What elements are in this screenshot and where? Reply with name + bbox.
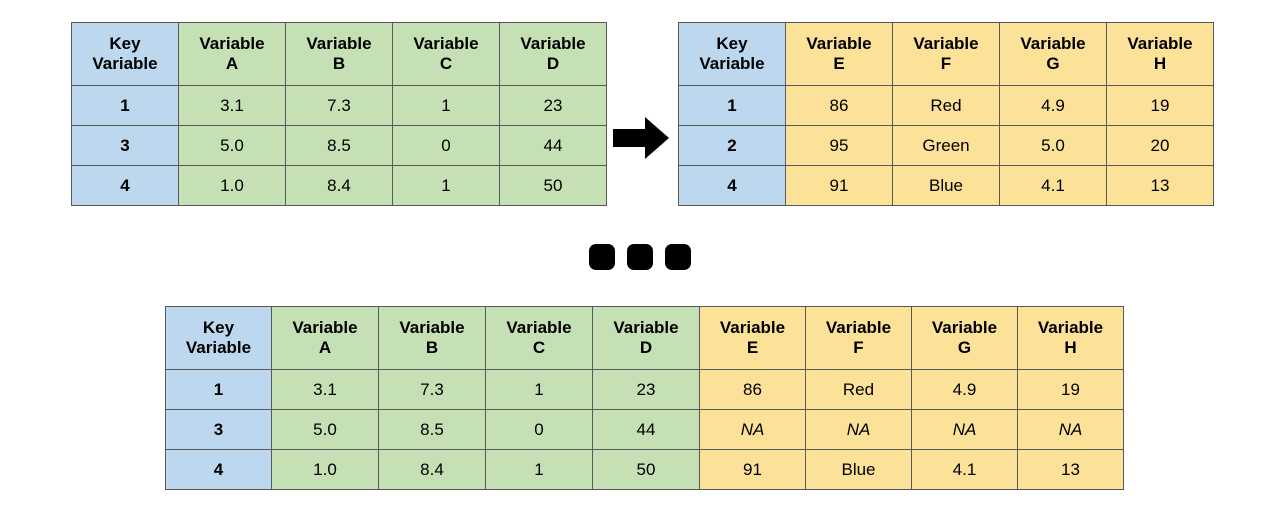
cell-value: 1.0 <box>179 166 286 206</box>
table-header-row: Key Variable Variable A Variable B Varia… <box>72 23 607 86</box>
header-cell-key-variable: Key Variable <box>679 23 786 86</box>
header-line-2: G <box>1000 54 1106 74</box>
header-cell-variable-c: Variable C <box>486 307 593 370</box>
header-line-1: Variable <box>1018 318 1123 338</box>
cell-value: 8.5 <box>379 410 486 450</box>
cell-value: Red <box>893 86 1000 126</box>
dot-3 <box>665 244 691 270</box>
cell-value: 19 <box>1107 86 1214 126</box>
table-header-row: Key Variable Variable E Variable F Varia… <box>679 23 1214 86</box>
cell-value: 19 <box>1018 370 1124 410</box>
header-line-1: Variable <box>806 318 911 338</box>
header-cell-variable-b: Variable B <box>379 307 486 370</box>
header-cell-key-variable: Key Variable <box>72 23 179 86</box>
right-arrow-icon <box>613 117 669 159</box>
cell-value: 50 <box>593 450 700 490</box>
dot-1 <box>589 244 615 270</box>
header-cell-variable-a: Variable A <box>272 307 379 370</box>
header-cell-variable-a: Variable A <box>179 23 286 86</box>
cell-value: 5.0 <box>1000 126 1107 166</box>
header-line-1: Variable <box>286 34 392 54</box>
cell-key: 1 <box>679 86 786 126</box>
header-line-1: Variable <box>500 34 606 54</box>
table-row: 3 5.0 8.5 0 44 NA NA NA NA <box>166 410 1124 450</box>
header-line-2: C <box>486 338 592 358</box>
table-merged-result: Key Variable Variable A Variable B Varia… <box>165 306 1124 490</box>
table-source-right: Key Variable Variable E Variable F Varia… <box>678 22 1214 206</box>
header-line-1: Variable <box>1107 34 1213 54</box>
header-line-2: Variable <box>679 54 785 74</box>
header-cell-variable-g: Variable G <box>1000 23 1107 86</box>
header-cell-variable-d: Variable D <box>500 23 607 86</box>
header-line-1: Variable <box>272 318 378 338</box>
table-row: 3 5.0 8.5 0 44 <box>72 126 607 166</box>
cell-value: 4.9 <box>1000 86 1107 126</box>
table-row: 1 86 Red 4.9 19 <box>679 86 1214 126</box>
cell-key: 4 <box>679 166 786 206</box>
cell-value: 8.4 <box>286 166 393 206</box>
cell-value: 23 <box>593 370 700 410</box>
header-cell-variable-f: Variable F <box>806 307 912 370</box>
cell-value: 5.0 <box>179 126 286 166</box>
cell-value: 13 <box>1018 450 1124 490</box>
cell-value: 20 <box>1107 126 1214 166</box>
table-row: 2 95 Green 5.0 20 <box>679 126 1214 166</box>
header-line-2: D <box>593 338 699 358</box>
cell-value: 3.1 <box>272 370 379 410</box>
cell-value: 44 <box>500 126 607 166</box>
cell-key: 3 <box>72 126 179 166</box>
table-header-row: Key Variable Variable A Variable B Varia… <box>166 307 1124 370</box>
cell-value: Red <box>806 370 912 410</box>
header-line-1: Variable <box>912 318 1017 338</box>
header-cell-key-variable: Key Variable <box>166 307 272 370</box>
cell-value: 5.0 <box>272 410 379 450</box>
dot-2 <box>627 244 653 270</box>
cell-value-na: NA <box>912 410 1018 450</box>
cell-value: 3.1 <box>179 86 286 126</box>
header-line-2: Variable <box>166 338 271 358</box>
cell-value: 4.9 <box>912 370 1018 410</box>
header-line-2: B <box>379 338 485 358</box>
header-line-1: Key <box>72 34 178 54</box>
header-line-1: Key <box>166 318 271 338</box>
header-line-1: Variable <box>379 318 485 338</box>
header-cell-variable-e: Variable E <box>700 307 806 370</box>
table-row: 1 3.1 7.3 1 23 86 Red 4.9 19 <box>166 370 1124 410</box>
cell-key: 1 <box>166 370 272 410</box>
cell-value: 1 <box>486 450 593 490</box>
table-source-left: Key Variable Variable A Variable B Varia… <box>71 22 607 206</box>
header-line-2: E <box>786 54 892 74</box>
header-line-2: Variable <box>72 54 178 74</box>
header-cell-variable-f: Variable F <box>893 23 1000 86</box>
cell-value: 7.3 <box>286 86 393 126</box>
cell-value: 8.5 <box>286 126 393 166</box>
cell-value: 8.4 <box>379 450 486 490</box>
ellipsis-dots-icon <box>589 243 691 271</box>
cell-value: Green <box>893 126 1000 166</box>
header-line-1: Variable <box>593 318 699 338</box>
table-row: 1 3.1 7.3 1 23 <box>72 86 607 126</box>
header-line-2: B <box>286 54 392 74</box>
cell-value: 4.1 <box>912 450 1018 490</box>
header-line-1: Variable <box>893 34 999 54</box>
header-cell-variable-d: Variable D <box>593 307 700 370</box>
cell-value: 1 <box>393 86 500 126</box>
cell-value: 4.1 <box>1000 166 1107 206</box>
header-line-2: C <box>393 54 499 74</box>
header-line-2: F <box>806 338 911 358</box>
cell-key: 4 <box>72 166 179 206</box>
cell-key: 1 <box>72 86 179 126</box>
cell-value: 0 <box>393 126 500 166</box>
cell-value: 23 <box>500 86 607 126</box>
header-line-2: G <box>912 338 1017 358</box>
cell-value: 86 <box>700 370 806 410</box>
cell-key: 3 <box>166 410 272 450</box>
header-line-1: Variable <box>179 34 285 54</box>
cell-key: 4 <box>166 450 272 490</box>
cell-value: 44 <box>593 410 700 450</box>
header-cell-variable-h: Variable H <box>1018 307 1124 370</box>
header-line-1: Variable <box>1000 34 1106 54</box>
header-line-2: H <box>1107 54 1213 74</box>
cell-value: 86 <box>786 86 893 126</box>
header-line-2: A <box>179 54 285 74</box>
cell-key: 2 <box>679 126 786 166</box>
table-row: 4 1.0 8.4 1 50 91 Blue 4.1 13 <box>166 450 1124 490</box>
cell-value: 1 <box>486 370 593 410</box>
cell-value: 91 <box>786 166 893 206</box>
cell-value: 7.3 <box>379 370 486 410</box>
header-line-1: Variable <box>700 318 805 338</box>
header-line-1: Variable <box>786 34 892 54</box>
cell-value-na: NA <box>700 410 806 450</box>
cell-value: 1 <box>393 166 500 206</box>
cell-value: 1.0 <box>272 450 379 490</box>
header-cell-variable-e: Variable E <box>786 23 893 86</box>
cell-value: 0 <box>486 410 593 450</box>
cell-value-na: NA <box>806 410 912 450</box>
cell-value: 13 <box>1107 166 1214 206</box>
header-line-2: F <box>893 54 999 74</box>
table-row: 4 91 Blue 4.1 13 <box>679 166 1214 206</box>
table-row: 4 1.0 8.4 1 50 <box>72 166 607 206</box>
header-line-2: D <box>500 54 606 74</box>
header-cell-variable-c: Variable C <box>393 23 500 86</box>
header-line-2: A <box>272 338 378 358</box>
header-cell-variable-g: Variable G <box>912 307 1018 370</box>
header-line-2: E <box>700 338 805 358</box>
header-line-1: Key <box>679 34 785 54</box>
header-line-1: Variable <box>486 318 592 338</box>
cell-value: 91 <box>700 450 806 490</box>
cell-value: 50 <box>500 166 607 206</box>
header-line-1: Variable <box>393 34 499 54</box>
header-cell-variable-b: Variable B <box>286 23 393 86</box>
header-line-2: H <box>1018 338 1123 358</box>
cell-value-na: NA <box>1018 410 1124 450</box>
cell-value: Blue <box>893 166 1000 206</box>
cell-value: Blue <box>806 450 912 490</box>
cell-value: 95 <box>786 126 893 166</box>
header-cell-variable-h: Variable H <box>1107 23 1214 86</box>
